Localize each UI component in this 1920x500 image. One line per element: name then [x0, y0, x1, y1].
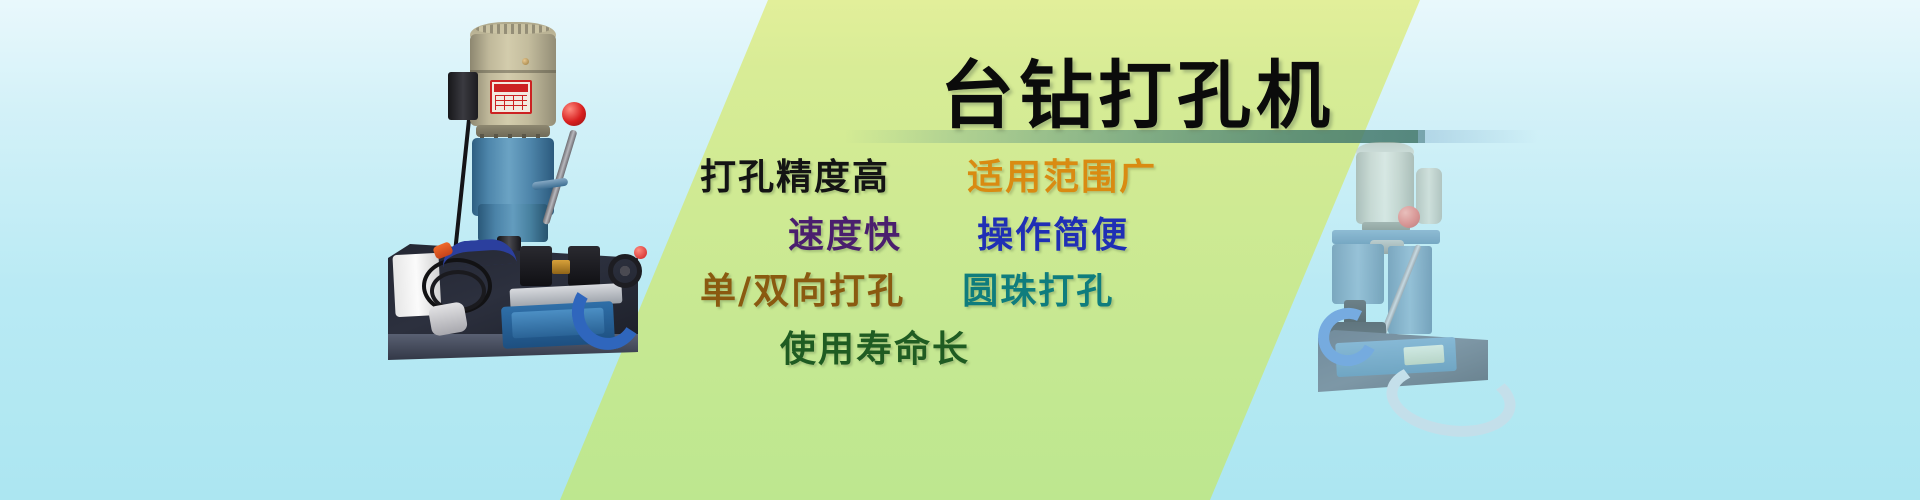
motor-bolt — [522, 58, 529, 65]
junction-box — [448, 72, 478, 120]
feature-row-4: 使用寿命长 — [700, 320, 1340, 372]
handwheel-knob — [634, 246, 647, 259]
power-cable — [453, 116, 472, 256]
motor-spec-label — [490, 80, 532, 114]
motor-vents — [476, 24, 550, 34]
feature-easy-operation: 操作简便 — [977, 206, 1129, 258]
feature-row-1: 打孔精度高 适用范围广 — [700, 148, 1340, 200]
banner-title: 台钻打孔机 — [940, 36, 1335, 143]
brass-workpiece — [552, 260, 570, 274]
vise-jaw-left — [520, 246, 552, 286]
product-banner: 台钻打孔机 打孔精度高 适用范围广 速度快 操作简便 单/双向打孔 圆珠打孔 使… — [0, 0, 1920, 500]
feature-range: 适用范围广 — [967, 148, 1157, 200]
lever-knob — [1398, 206, 1420, 228]
feature-precision: 打孔精度高 — [700, 148, 890, 200]
feature-row-3: 单/双向打孔 圆珠打孔 — [700, 262, 1340, 314]
handwheel — [608, 254, 642, 288]
drill-head-casting — [1332, 244, 1384, 304]
right-machine-image — [1318, 134, 1568, 434]
lever-knob — [562, 102, 586, 126]
feature-single-double-drilling: 单/双向打孔 — [700, 262, 905, 314]
feature-ball-drilling: 圆珠打孔 — [962, 262, 1114, 314]
feature-speed: 速度快 — [788, 206, 902, 258]
feature-long-life: 使用寿命长 — [780, 320, 970, 372]
left-machine-image — [372, 8, 662, 376]
motor-seam — [470, 70, 556, 73]
feature-list: 打孔精度高 适用范围广 速度快 操作简便 单/双向打孔 圆珠打孔 使用寿命长 — [700, 148, 1340, 448]
feature-row-2: 速度快 操作简便 — [700, 206, 1340, 258]
foot-pedal — [428, 301, 469, 337]
